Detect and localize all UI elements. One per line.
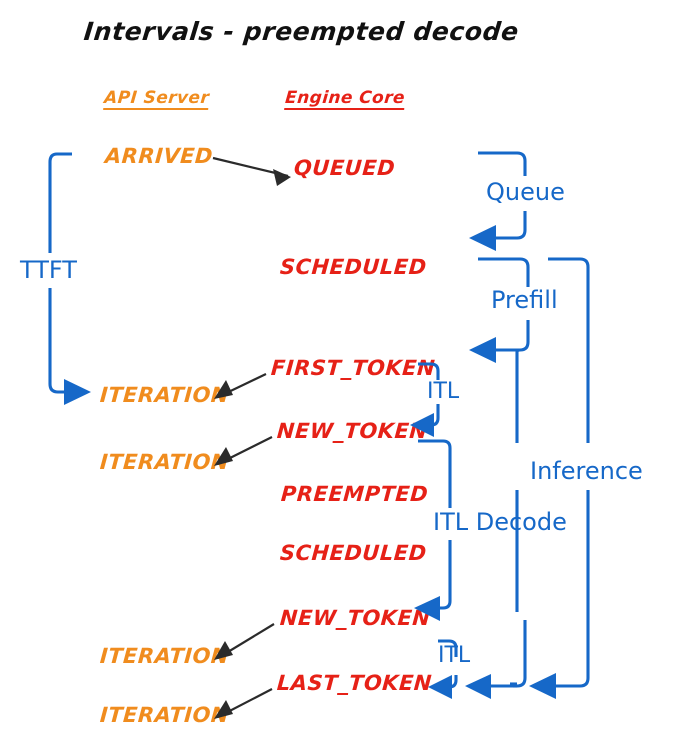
arrow-arrived-to-queued <box>213 158 291 186</box>
interval-itl-decode-bottom-arrow <box>465 620 525 699</box>
interval-label-prefill: Prefill <box>491 288 558 312</box>
interval-label-ttft: TTFT <box>20 258 77 282</box>
diagram-canvas: Intervals - preempted decode API Server … <box>0 0 679 750</box>
interval-label-itl-last: ITL <box>438 645 470 667</box>
arrow-new-token-to-iteration-2 <box>214 437 272 466</box>
arrow-last-token-to-iteration-4 <box>214 689 272 719</box>
arrow-new-token-to-iteration-3 <box>214 624 274 660</box>
interval-label-itl-first: ITL <box>427 381 459 403</box>
interval-inference-mid-line <box>517 350 520 612</box>
bracket-layer <box>0 0 679 750</box>
arrow-first-token-to-iteration <box>214 374 266 399</box>
interval-label-inference: Inference <box>530 459 643 483</box>
interval-label-queue: Queue <box>486 180 565 204</box>
interval-label-itl-decode: ITL Decode <box>433 510 567 534</box>
